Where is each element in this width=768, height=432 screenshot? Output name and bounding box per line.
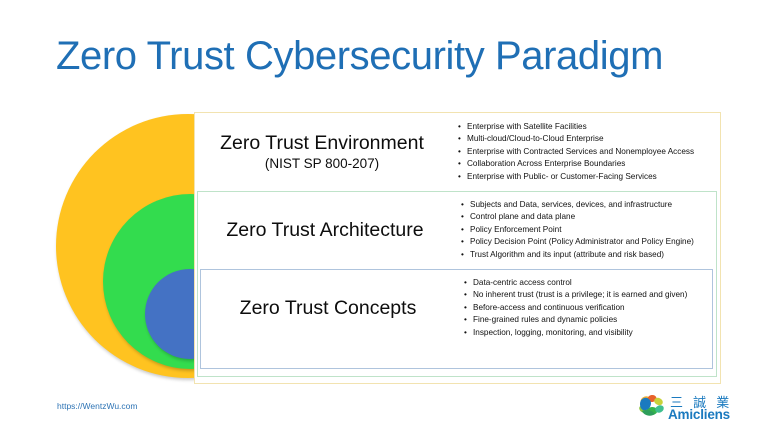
- layer-row-concepts: Zero Trust Concepts Data-centric access …: [202, 271, 711, 345]
- bullet-item: Enterprise with Contracted Services and …: [458, 146, 719, 159]
- bullet-item: Inspection, logging, monitoring, and vis…: [464, 327, 711, 340]
- layer-heading-environment: Zero Trust Environment (NIST SP 800-207): [196, 132, 448, 173]
- layer-heading-concepts: Zero Trust Concepts: [202, 297, 454, 319]
- layer-heading-architecture: Zero Trust Architecture: [199, 219, 451, 241]
- page-title: Zero Trust Cybersecurity Paradigm: [56, 34, 663, 79]
- layer-heading-subtitle: (NIST SP 800-207): [196, 155, 448, 173]
- bullet-item: Collaboration Across Enterprise Boundari…: [458, 158, 719, 171]
- company-logo: 三 誠 業 Amicliens: [637, 392, 759, 424]
- footer-website-link[interactable]: https://WentzWu.com: [57, 401, 137, 411]
- layer-row-architecture: Zero Trust Architecture Subjects and Dat…: [199, 193, 715, 267]
- butterfly-flower-mark: [637, 394, 667, 420]
- bullet-item: Policy Enforcement Point: [461, 224, 715, 237]
- layer-bullets-concepts: Data-centric access control No inherent …: [454, 277, 711, 340]
- logo-latin-name: Amicliens: [668, 407, 730, 422]
- layer-bullets-environment: Enterprise with Satellite Facilities Mul…: [448, 121, 719, 184]
- layer-heading-title: Zero Trust Architecture: [199, 219, 451, 241]
- bullet-item: Policy Decision Point (Policy Administra…: [461, 236, 715, 249]
- layer-heading-title: Zero Trust Concepts: [202, 297, 454, 319]
- bullet-item: Enterprise with Public- or Customer-Faci…: [458, 171, 719, 184]
- bullet-item: Subjects and Data, services, devices, an…: [461, 199, 715, 212]
- bullet-item: No inherent trust (trust is a privilege;…: [464, 289, 711, 302]
- layer-row-environment: Zero Trust Environment (NIST SP 800-207)…: [196, 114, 719, 190]
- bullet-item: Control plane and data plane: [461, 211, 715, 224]
- zero-trust-diagram: Zero Trust Environment (NIST SP 800-207)…: [0, 104, 768, 394]
- bullet-item: Multi-cloud/Cloud-to-Cloud Enterprise: [458, 133, 719, 146]
- bullet-item: Data-centric access control: [464, 277, 711, 290]
- bullet-item: Fine-grained rules and dynamic policies: [464, 314, 711, 327]
- bullet-item: Enterprise with Satellite Facilities: [458, 121, 719, 134]
- bullet-item: Before-access and continuous verificatio…: [464, 302, 711, 315]
- layer-heading-title: Zero Trust Environment: [196, 132, 448, 154]
- bullet-item: Trust Algorithm and its input (attribute…: [461, 249, 715, 262]
- layer-bullets-architecture: Subjects and Data, services, devices, an…: [451, 199, 715, 262]
